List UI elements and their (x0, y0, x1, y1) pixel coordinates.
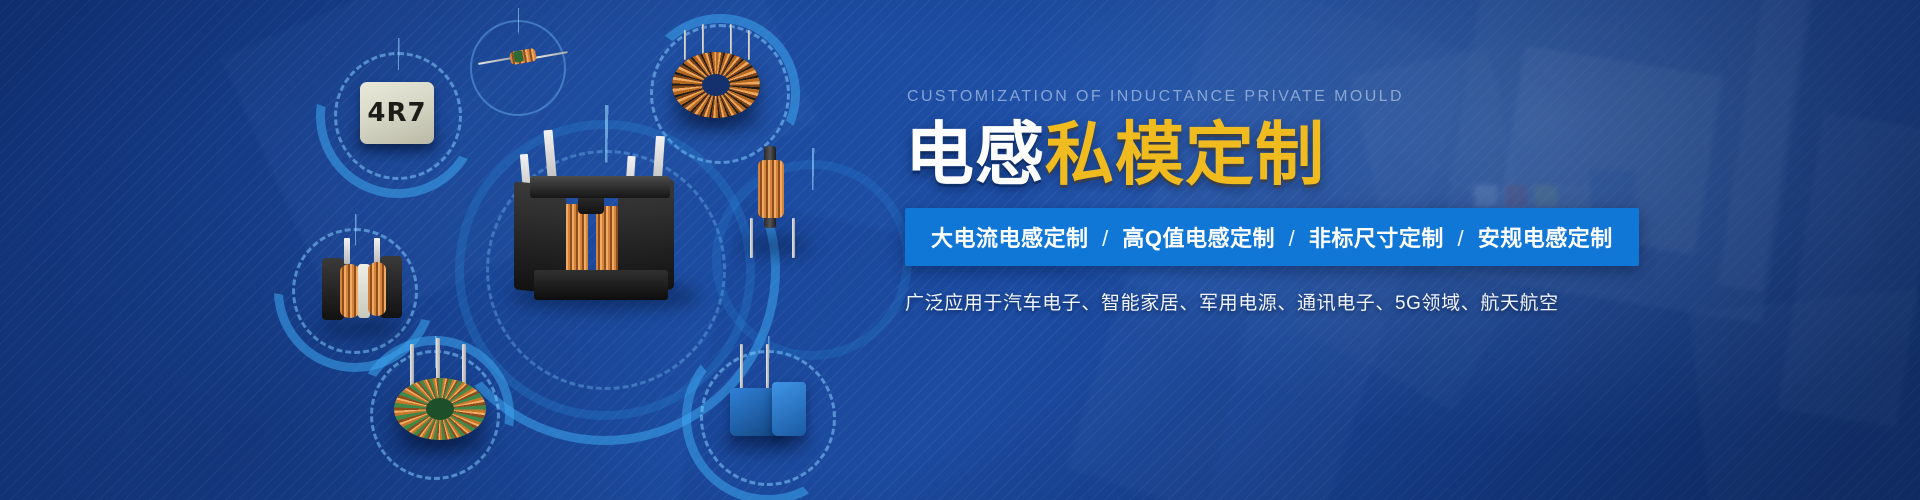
application-description: 广泛应用于汽车电子、智能家居、军用电源、通讯电子、5G领域、航天航空 (905, 288, 1695, 315)
tagline-item-3: 安规电感定制 (1478, 226, 1613, 251)
inductance-customization-banner: 4R7 (0, 0, 1920, 500)
headline-gold-part: 私模定制 (1045, 116, 1325, 193)
tagline-separator-2: / (1451, 226, 1472, 251)
product-green-toroid-choke (392, 378, 484, 440)
tagline-item-0: 大电流电感定制 (931, 226, 1089, 251)
page-title: 电感私模定制 (905, 120, 1695, 190)
toroid-core (672, 52, 760, 118)
smd-chip-code-label: 4R7 (360, 82, 434, 144)
headline-white-part: 电感 (905, 116, 1045, 193)
smd-chip-body: 4R7 (360, 82, 434, 144)
tagline-item-2: 非标尺寸定制 (1309, 226, 1444, 251)
tagline-separator-0: / (1095, 226, 1116, 251)
tagline-separator-1: / (1282, 226, 1303, 251)
banner-text-block: CUSTOMIZATION OF INDUCTANCE PRIVATE MOUL… (905, 88, 1695, 315)
tech-ring-icon (700, 148, 924, 372)
product-air-core-coil (478, 30, 568, 90)
product-smd-power-inductor: 4R7 (360, 82, 434, 144)
tagline-item-1: 高Q值电感定制 (1122, 226, 1275, 251)
service-tagline-bar[interactable]: 大电流电感定制 / 高Q值电感定制 / 非标尺寸定制 / 安规电感定制 (905, 208, 1639, 266)
product-common-mode-choke-large (500, 130, 720, 310)
banner-eyebrow-english: CUSTOMIZATION OF INDUCTANCE PRIVATE MOUL… (907, 88, 1695, 106)
product-toroidal-common-mode-choke (668, 48, 756, 114)
